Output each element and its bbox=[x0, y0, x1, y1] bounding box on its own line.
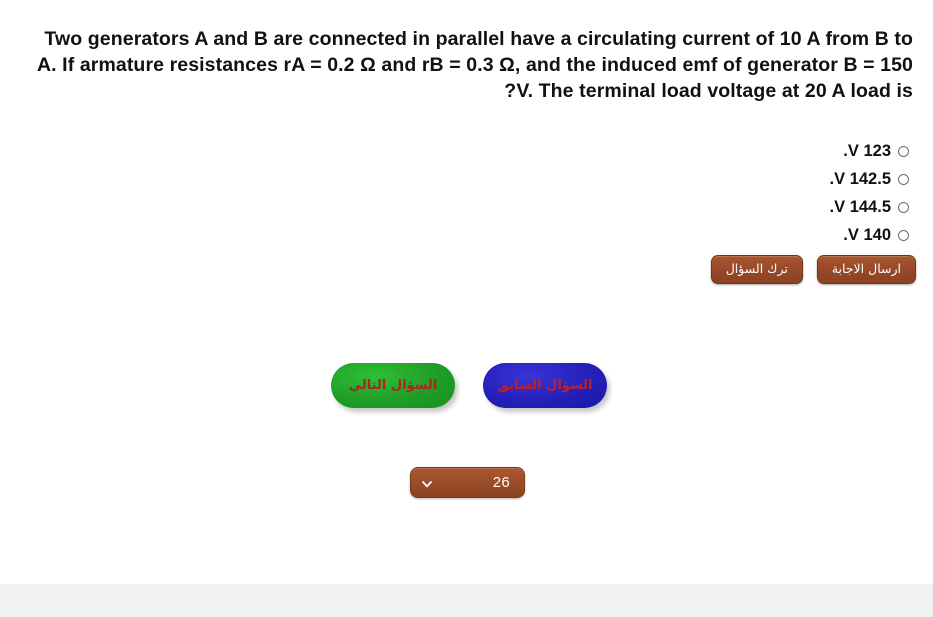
question-number-value: 26 bbox=[493, 474, 510, 491]
option-label-4: 140 V. bbox=[843, 226, 891, 245]
question-text: Two generators A and B are connected in … bbox=[20, 26, 913, 104]
option-row[interactable]: 123 V. bbox=[529, 140, 909, 163]
radio-option-1[interactable] bbox=[898, 146, 909, 157]
radio-option-3[interactable] bbox=[898, 202, 909, 213]
next-question-button[interactable]: السؤال التالي bbox=[331, 363, 455, 408]
radio-option-4[interactable] bbox=[898, 230, 909, 241]
option-row[interactable]: 140 V. bbox=[529, 224, 909, 247]
question-area: Two generators A and B are connected in … bbox=[0, 26, 933, 104]
option-label-3: 144.5 V. bbox=[830, 198, 892, 217]
action-button-group: ترك السؤال ارسال الاجابة bbox=[711, 255, 916, 284]
radio-option-2[interactable] bbox=[898, 174, 909, 185]
option-row[interactable]: 144.5 V. bbox=[529, 196, 909, 219]
option-row[interactable]: 142.5 V. bbox=[529, 168, 909, 191]
submit-answer-button[interactable]: ارسال الاجابة bbox=[817, 255, 916, 284]
question-number-dropdown[interactable]: 26 bbox=[410, 467, 525, 498]
navigation-button-group: السؤال التالي السؤال السابق bbox=[331, 363, 607, 408]
option-label-2: 142.5 V. bbox=[830, 170, 892, 189]
answer-options-list: 123 V. 142.5 V. 144.5 V. 140 V. bbox=[529, 140, 909, 252]
question-number-dropdown-wrapper: 26 bbox=[410, 467, 525, 498]
previous-question-button[interactable]: السؤال السابق bbox=[483, 363, 607, 408]
chevron-down-icon bbox=[421, 477, 433, 489]
option-label-1: 123 V. bbox=[843, 142, 891, 161]
footer-strip bbox=[0, 584, 933, 617]
skip-question-button[interactable]: ترك السؤال bbox=[711, 255, 803, 284]
